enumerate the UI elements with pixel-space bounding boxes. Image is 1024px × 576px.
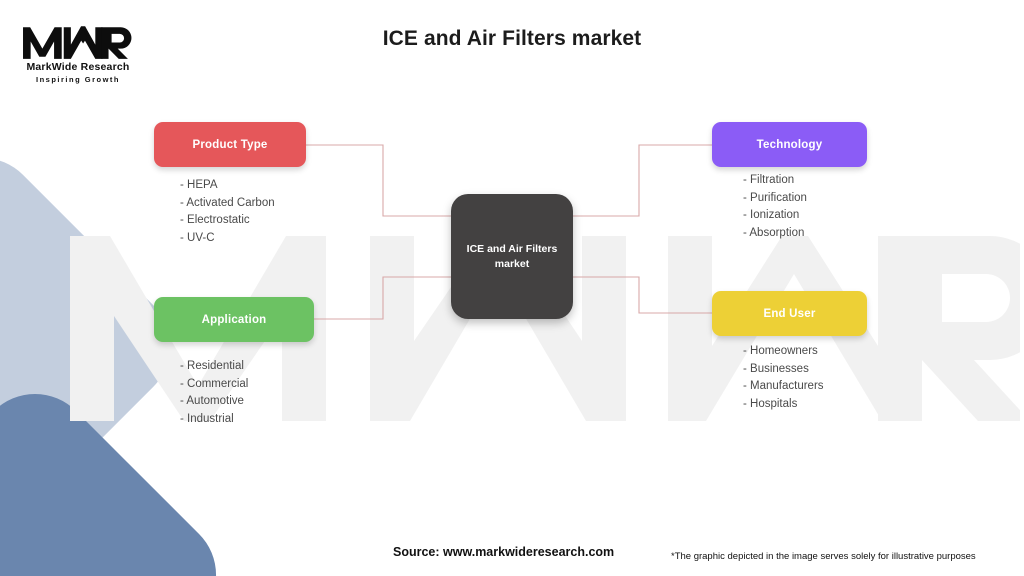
center-node-label: ICE and Air Filters market (459, 242, 566, 270)
center-node-label-line2: market (495, 258, 529, 270)
list-item: - Ionization (743, 207, 807, 225)
list-item: - Hospitals (743, 396, 824, 414)
node-application[interactable]: Application (154, 297, 314, 342)
list-item: - Purification (743, 190, 807, 208)
list-item: - Residential (180, 358, 248, 376)
list-item: - Industrial (180, 411, 248, 429)
connector-end-user (573, 277, 712, 313)
list-item: - Activated Carbon (180, 195, 275, 213)
connector-technology (573, 145, 712, 216)
node-application-label: Application (202, 314, 267, 326)
list-item: - Homeowners (743, 343, 824, 361)
list-item: - Manufacturers (743, 378, 824, 396)
list-application: - Residential - Commercial - Automotive … (180, 358, 248, 428)
list-technology: - Filtration - Purification - Ionization… (743, 172, 807, 242)
center-node[interactable]: ICE and Air Filters market (451, 194, 573, 319)
infographic-canvas: MarkWide Research Inspiring Growth ICE a… (0, 0, 1024, 576)
node-end-user-label: End User (763, 308, 815, 320)
connector-application (314, 277, 451, 319)
disclaimer-text: *The graphic depicted in the image serve… (671, 551, 976, 562)
list-end-user: - Homeowners - Businesses - Manufacturer… (743, 343, 824, 413)
list-item: - Absorption (743, 225, 807, 243)
list-item: - Automotive (180, 393, 248, 411)
list-item: - Commercial (180, 376, 248, 394)
connector-product-type (306, 145, 451, 216)
node-product-type[interactable]: Product Type (154, 122, 306, 167)
node-technology-label: Technology (757, 139, 823, 151)
node-product-type-label: Product Type (192, 139, 267, 151)
list-item: - Electrostatic (180, 212, 275, 230)
node-technology[interactable]: Technology (712, 122, 867, 167)
list-item: - Businesses (743, 361, 824, 379)
list-item: - UV-C (180, 230, 275, 248)
source-text: Source: www.markwideresearch.com (393, 545, 614, 559)
node-end-user[interactable]: End User (712, 291, 867, 336)
list-product-type: - HEPA - Activated Carbon - Electrostati… (180, 177, 275, 247)
list-item: - HEPA (180, 177, 275, 195)
list-item: - Filtration (743, 172, 807, 190)
center-node-label-line1: ICE and Air Filters (467, 243, 558, 255)
